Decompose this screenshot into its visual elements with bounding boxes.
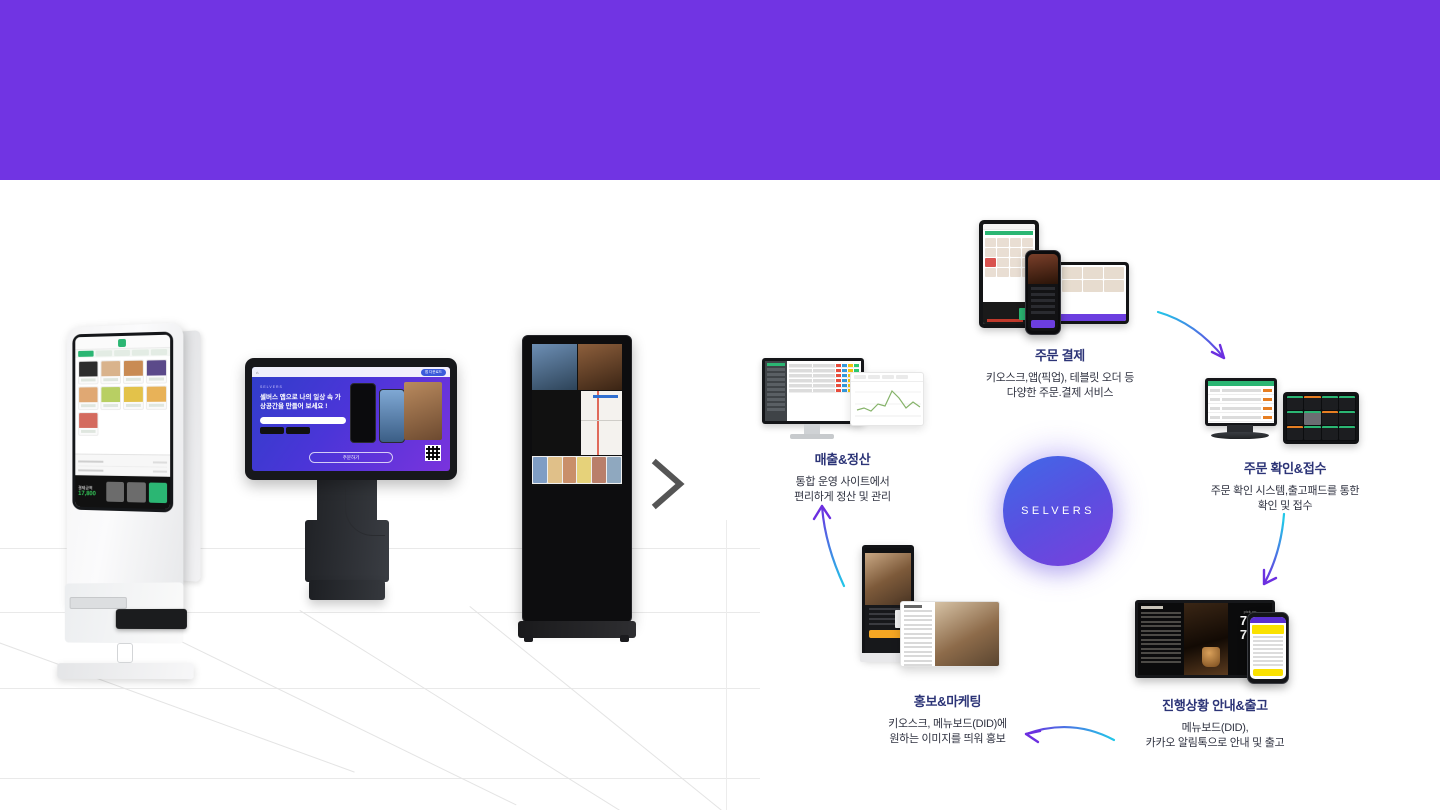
kiosk-base [57, 663, 193, 679]
tablet-topbar: ⌂ 앱 다운로드 [252, 367, 450, 377]
signage-base [518, 621, 636, 638]
kiosk-logo-icon [118, 339, 126, 347]
promo-marketing-devices [862, 545, 1002, 670]
tablet-screen: ⌂ 앱 다운로드 SELVERS 셀버스 앱으로 나의 일상 속 가상공간을 만… [252, 367, 450, 471]
curved-arrow-up-icon [800, 498, 860, 590]
kiosk-total: 결제금액 17,800 [78, 485, 103, 497]
kiosk-cancel-button[interactable] [106, 482, 124, 502]
app-download-badge[interactable]: 앱 다운로드 [421, 369, 446, 376]
node-desc-line-1: 키오스크, 메뉴보드(DID)에 [830, 717, 1065, 732]
kiosk-total-value: 17,800 [78, 491, 96, 497]
hub-label: SELVERS [1021, 505, 1095, 517]
tablet-order-button[interactable]: 주문하기 [309, 452, 393, 463]
node-title: 주문 확인&접수 [1160, 458, 1410, 477]
curved-arrow-down-icon [1248, 510, 1308, 600]
tablet-frame: ⌂ 앱 다운로드 SELVERS 셀버스 앱으로 나의 일상 속 가상공간을 만… [245, 358, 457, 480]
kiosk-screen-header [75, 335, 170, 350]
node-desc-line-1: 통합 운영 사이트에서 [735, 475, 950, 490]
order-accept-devices [1205, 378, 1360, 450]
node-status-release: 진행상황 안내&출고 메뉴보드(DID), 카카오 알림톡으로 안내 및 출고 [1095, 695, 1335, 751]
node-description: 메뉴보드(DID), 카카오 알림톡으로 안내 및 출고 [1095, 721, 1335, 751]
signage-wheel [620, 635, 629, 642]
node-desc-line-1: 메뉴보드(DID), [1095, 721, 1335, 736]
kiosk-menu-grid [75, 356, 170, 439]
chevron-right-icon [648, 458, 690, 510]
kiosk-action-bar: 결제금액 17,800 [75, 475, 170, 509]
node-desc-line-2: 편리하게 정산 및 관리 [735, 490, 950, 505]
node-desc-line-2: 원하는 이미지를 띄워 홍보 [830, 732, 1065, 747]
page-root: 결제금액 17,800 ⌂ 앱 다운로드 SEL [0, 0, 1440, 810]
node-description: 키오스크,앱(픽업), 테블릿 오더 등 다양한 주문.결제 서비스 [930, 371, 1190, 401]
tablet-store-badges[interactable] [260, 427, 346, 434]
kiosk-option-button[interactable] [127, 482, 145, 502]
node-promo-marketing: 홍보&마케팅 키오스크, 메뉴보드(DID)에 원하는 이미지를 띄워 홍보 [830, 691, 1065, 747]
tablet-kiosk: ⌂ 앱 다운로드 SELVERS 셀버스 앱으로 나의 일상 속 가상공간을 만… [245, 358, 465, 638]
node-title: 진행상황 안내&출고 [1095, 695, 1335, 714]
top-purple-band [0, 0, 1440, 180]
tablet-headline: 셀버스 앱으로 나의 일상 속 가상공간을 만들어 보세요 ! [260, 393, 346, 411]
sales-chart-panel [850, 372, 924, 426]
node-desc-line-1: 주문 확인 시스템,출고패드를 통한 [1160, 484, 1410, 499]
sales-dashboard-devices [762, 358, 927, 446]
node-title: 홍보&마케팅 [830, 691, 1065, 710]
node-order-payment: 주문 결제 키오스크,앱(픽업), 테블릿 오더 등 다양한 주문.결제 서비스 [930, 345, 1190, 401]
qr-code-icon [425, 445, 441, 461]
node-title: 매출&정산 [735, 449, 950, 468]
kiosk-screen: 결제금액 17,800 [75, 335, 170, 510]
digital-signage-totem [518, 335, 638, 645]
kakao-alert-phone [1247, 612, 1289, 684]
kiosk-foot [309, 580, 385, 600]
kiosk-cart-list [75, 454, 170, 477]
kiosk-pay-button[interactable] [148, 483, 167, 504]
node-sales-settlement: 매출&정산 통합 운영 사이트에서 편리하게 정산 및 관리 [735, 449, 950, 505]
node-desc-line-2: 다양한 주문.결제 서비스 [930, 386, 1190, 401]
card-reader [116, 609, 187, 629]
tablet-phone-mockups [350, 383, 405, 443]
node-description: 키오스크, 메뉴보드(DID)에 원하는 이미지를 띄워 홍보 [830, 717, 1065, 747]
node-desc-line-2: 확인 및 접수 [1160, 499, 1410, 514]
node-description: 통합 운영 사이트에서 편리하게 정산 및 관리 [735, 475, 950, 505]
kiosk-screen-bezel: 결제금액 17,800 [72, 332, 173, 513]
tablet-poster-image [404, 382, 442, 440]
self-order-kiosk: 결제금액 17,800 [55, 325, 205, 645]
node-desc-line-1: 키오스크,앱(픽업), 테블릿 오더 등 [930, 371, 1190, 386]
signage-content [532, 344, 622, 486]
node-title: 주문 결제 [930, 345, 1190, 364]
status-release-devices: pick up 701 700 [1135, 600, 1290, 685]
hub-badge: SELVERS [1003, 456, 1113, 566]
kiosk-total-label: 결제금액 [78, 485, 92, 490]
tablet-hero: SELVERS 셀버스 앱으로 나의 일상 속 가상공간을 만들어 보세요 ! [260, 385, 346, 434]
tablet-search-input[interactable] [260, 417, 346, 424]
nfc-pad-icon [117, 643, 133, 663]
order-payment-devices [975, 220, 1140, 335]
signage-frame [522, 335, 632, 623]
receipt-slot [70, 597, 127, 609]
signage-wheel [524, 635, 533, 642]
tablet-brand: SELVERS [260, 385, 346, 389]
node-order-accept: 주문 확인&접수 주문 확인 시스템,출고패드를 통한 확인 및 접수 [1160, 458, 1410, 514]
node-description: 주문 확인 시스템,출고패드를 통한 확인 및 접수 [1160, 484, 1410, 514]
node-desc-line-2: 카카오 알림톡으로 안내 및 출고 [1095, 736, 1335, 751]
